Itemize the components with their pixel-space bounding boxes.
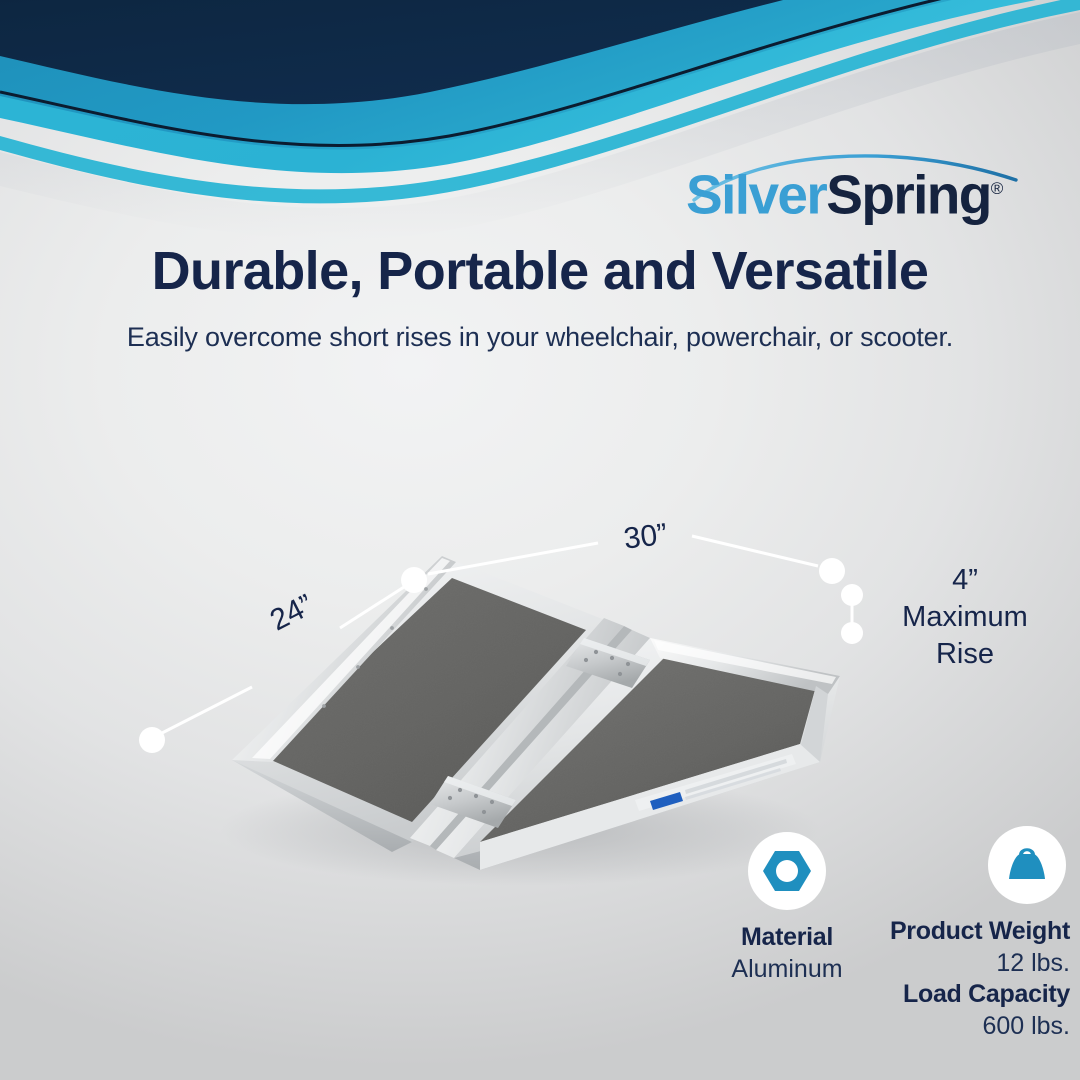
dimension-label-rise: 4” Maximum Rise xyxy=(880,562,1050,673)
hex-nut-icon xyxy=(748,832,826,910)
wave-dark-separator xyxy=(0,0,1080,145)
measure-dot-24-start xyxy=(139,727,165,753)
spec-capacity-title: Load Capacity xyxy=(860,979,1070,1010)
wave-navy-mass xyxy=(0,0,1080,104)
dimension-rise-line3: Rise xyxy=(936,638,994,670)
spec-weight: Product Weight 12 lbs. Load Capacity 600… xyxy=(860,826,1070,1042)
rivet xyxy=(322,704,326,708)
infographic-canvas: SilverSpring® Durable, Portable and Vers… xyxy=(0,0,1080,1080)
spec-weight-text: Product Weight 12 lbs. Load Capacity 600… xyxy=(860,916,1070,1042)
spec-material-value: Aluminum xyxy=(722,953,852,985)
logo-wordmark: SilverSpring® xyxy=(686,158,1036,225)
logo-spring-text: Spring xyxy=(826,163,991,225)
dimension-rise-line2: Maximum xyxy=(902,601,1028,633)
dimension-rise-value: 4” xyxy=(952,564,978,596)
silver-spring-logo: SilverSpring® xyxy=(686,146,1036,228)
weight-icon xyxy=(988,826,1066,904)
spec-material-title: Material xyxy=(722,922,852,953)
rivet xyxy=(390,626,394,630)
spec-weight-title: Product Weight xyxy=(860,916,1070,947)
wave-teal-band xyxy=(0,0,1080,149)
dimension-label-length: 30” xyxy=(622,518,669,557)
page-subtitle: Easily overcome short rises in your whee… xyxy=(0,322,1080,353)
page-title: Durable, Portable and Versatile xyxy=(0,240,1080,302)
product-image xyxy=(180,470,880,890)
rivet xyxy=(356,665,360,669)
rivet xyxy=(424,587,428,591)
registered-mark-icon: ® xyxy=(991,179,1002,198)
spec-material: Material Aluminum xyxy=(722,832,852,985)
spec-material-text: Material Aluminum xyxy=(722,922,852,985)
spec-weight-value: 12 lbs. xyxy=(860,947,1070,979)
spec-capacity-value: 600 lbs. xyxy=(860,1010,1070,1042)
logo-silver-text: Silver xyxy=(686,163,826,225)
